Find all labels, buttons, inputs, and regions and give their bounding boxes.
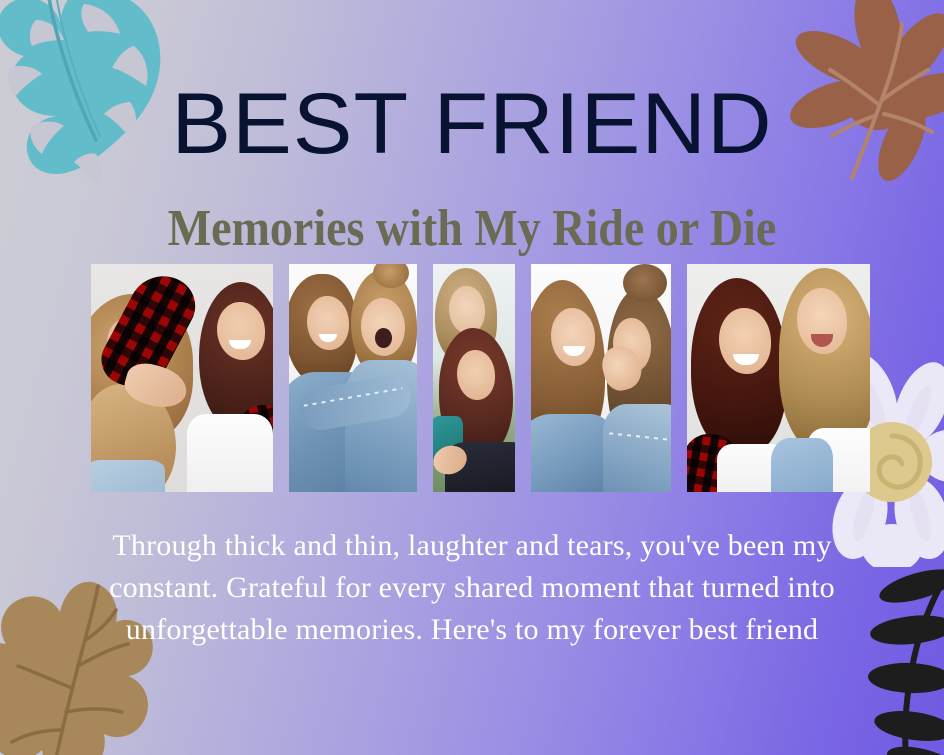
gallery-photo[interactable]: [91, 264, 273, 492]
photo-gallery: [91, 264, 856, 492]
gallery-photo[interactable]: [531, 264, 671, 492]
gallery-photo[interactable]: [687, 264, 870, 492]
body-line-2: constant. Grateful for every shared mome…: [72, 567, 872, 609]
gallery-photo[interactable]: [289, 264, 417, 492]
body-line-3: unforgettable memories. Here's to my for…: [72, 609, 872, 651]
poster-canvas: BEST FRIEND Memories with My Ride or Die: [0, 0, 944, 755]
body-paragraph: Through thick and thin, laughter and tea…: [72, 525, 872, 651]
page-subtitle: Memories with My Ride or Die: [0, 197, 944, 260]
body-line-1: Through thick and thin, laughter and tea…: [72, 525, 872, 567]
gallery-photo[interactable]: [433, 264, 515, 492]
page-title: BEST FRIEND: [0, 76, 944, 172]
